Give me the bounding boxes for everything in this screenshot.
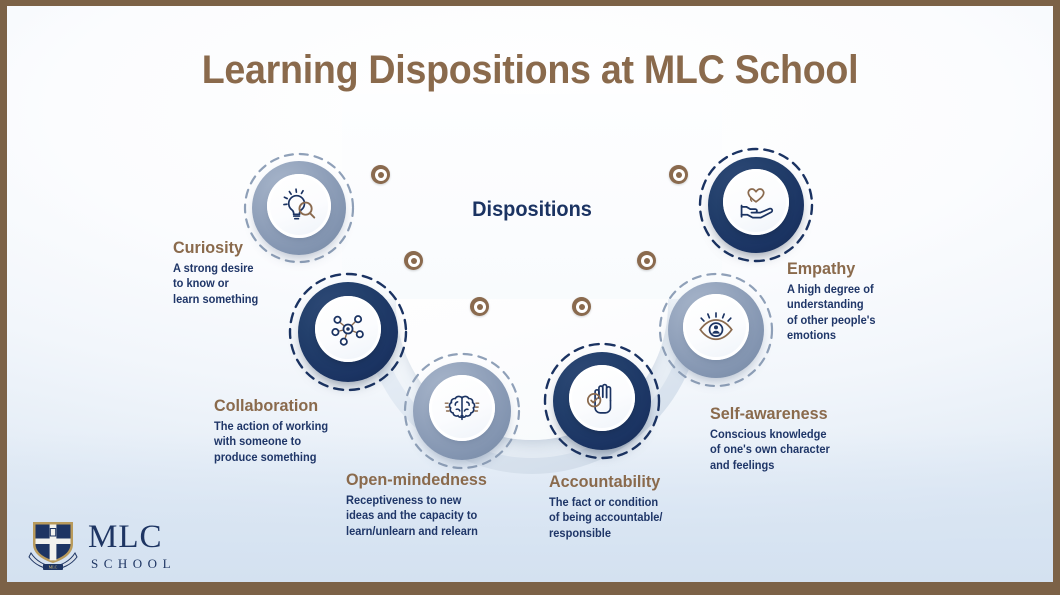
eye-person-icon [695, 306, 737, 348]
logo-main-text: MLC [88, 521, 176, 554]
network-nodes-icon [327, 308, 369, 350]
svg-text:MLC: MLC [49, 565, 58, 570]
icon-face-open-mindedness [429, 375, 495, 441]
slide-frame: Learning Dispositions at MLC School Disp… [0, 0, 1060, 595]
node-self-awareness[interactable] [658, 272, 774, 388]
body-open-mindedness: Receptiveness to new ideas and the capac… [346, 494, 548, 540]
node-open-mindedness[interactable] [403, 352, 521, 470]
label-accountability: Accountability The fact or condition of … [549, 472, 729, 542]
icon-face-accountability [569, 365, 635, 431]
icon-face-empathy [723, 169, 789, 235]
body-curiosity: A strong desire to know or learn somethi… [173, 262, 336, 308]
center-label: Dispositions [371, 198, 694, 222]
node-empathy[interactable] [698, 147, 814, 263]
slide-canvas: Learning Dispositions at MLC School Disp… [7, 6, 1053, 582]
brain-icon [441, 387, 483, 429]
label-self-awareness: Self-awareness Conscious knowledge of on… [710, 404, 900, 474]
node-accountability[interactable] [543, 342, 661, 460]
mlc-school-logo[interactable]: MLC MLC SCHOOL [27, 514, 207, 576]
heading-empathy: Empathy [787, 259, 958, 279]
logo-wordmark: MLC SCHOOL [88, 521, 176, 570]
label-curiosity: Curiosity A strong desire to know or lea… [173, 238, 343, 308]
arc-marker-1 [371, 165, 390, 184]
body-collaboration: The action of working with someone to pr… [214, 420, 396, 466]
arc-marker-2 [404, 251, 423, 270]
label-empathy: Empathy A high degree of understanding o… [787, 259, 967, 344]
arc-marker-4 [572, 297, 591, 316]
logo-sub-text: SCHOOL [91, 557, 176, 570]
arc-top-mask [342, 94, 722, 299]
shield-crest-icon: MLC [27, 517, 79, 573]
icon-face-curiosity [267, 174, 331, 238]
body-self-awareness: Conscious knowledge of one's own charact… [710, 428, 892, 474]
heading-self-awareness: Self-awareness [710, 404, 891, 424]
label-collaboration: Collaboration The action of working with… [214, 396, 404, 466]
arc-marker-5 [637, 251, 656, 270]
heading-collaboration: Collaboration [214, 396, 395, 416]
hand-heart-icon [735, 181, 777, 223]
lightbulb-magnifier-icon [278, 185, 320, 227]
icon-face-self-awareness [683, 294, 749, 360]
label-open-mindedness: Open-mindedness Receptiveness to new ide… [346, 470, 556, 540]
page-title: Learning Dispositions at MLC School [38, 48, 1021, 93]
arc-marker-6 [669, 165, 688, 184]
body-accountability: The fact or condition of being accountab… [549, 496, 722, 542]
body-empathy: A high degree of understanding of other … [787, 283, 960, 344]
heading-accountability: Accountability [549, 472, 720, 492]
arc-marker-3 [470, 297, 489, 316]
heading-curiosity: Curiosity [173, 238, 335, 258]
raised-hand-check-icon [581, 377, 623, 419]
heading-open-mindedness: Open-mindedness [346, 470, 546, 490]
